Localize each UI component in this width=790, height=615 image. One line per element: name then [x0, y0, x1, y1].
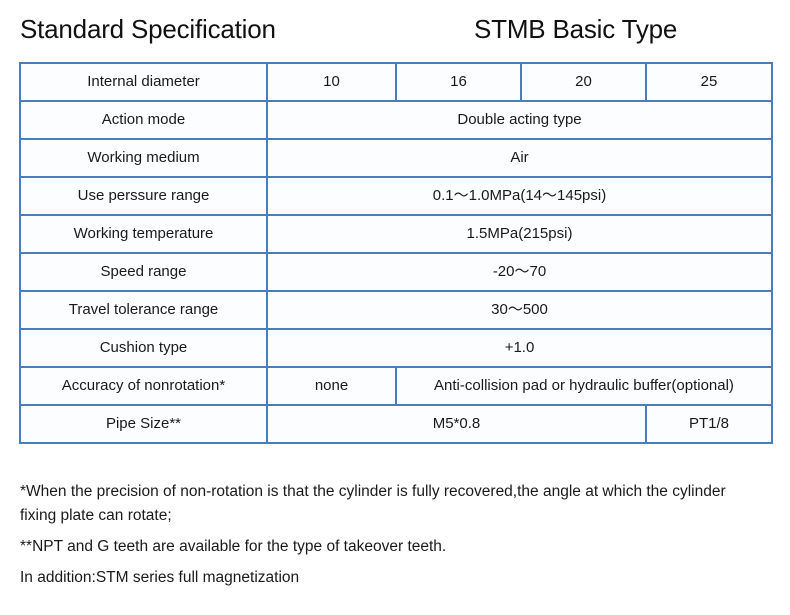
- footnote-nonrotation: *When the precision of non-rotation is t…: [20, 480, 762, 528]
- row-label: Action mode: [20, 101, 267, 139]
- row-label: Working temperature: [20, 215, 267, 253]
- table-cell: 20: [521, 63, 646, 101]
- table-cell: 25: [646, 63, 772, 101]
- row-label: Accuracy of nonrotation*: [20, 367, 267, 405]
- table-cell: 30～500: [267, 291, 772, 329]
- table-cell: -20～70: [267, 253, 772, 291]
- table-cell: 1.5MPa(215psi): [267, 215, 772, 253]
- footnote-additional: In addition:STM series full magnetizatio…: [20, 566, 762, 590]
- specification-table-container: Internal diameter 10 16 20 25 Action mod…: [19, 62, 771, 444]
- table-cell: M5*0.8: [267, 405, 646, 443]
- table-row: Use perssure range 0.1～1.0MPa(14～145psi): [20, 177, 772, 215]
- table-row: Accuracy of nonrotation* none Anti-colli…: [20, 367, 772, 405]
- row-label: Internal diameter: [20, 63, 267, 101]
- row-label: Speed range: [20, 253, 267, 291]
- table-cell: Double acting type: [267, 101, 772, 139]
- page-title-left: Standard Specification: [20, 14, 276, 45]
- table-row: Cushion type +1.0: [20, 329, 772, 367]
- row-label: Use perssure range: [20, 177, 267, 215]
- table-cell: 10: [267, 63, 396, 101]
- table-row: Internal diameter 10 16 20 25: [20, 63, 772, 101]
- table-cell: PT1/8: [646, 405, 772, 443]
- table-row: Pipe Size** M5*0.8 PT1/8: [20, 405, 772, 443]
- page-title-right: STMB Basic Type: [474, 14, 677, 45]
- table-row: Travel tolerance range 30～500: [20, 291, 772, 329]
- row-label: Working medium: [20, 139, 267, 177]
- footnote-pipe-size: **NPT and G teeth are available for the …: [20, 535, 762, 559]
- table-cell: Anti-collision pad or hydraulic buffer(o…: [396, 367, 772, 405]
- page-header: Standard Specification STMB Basic Type: [0, 14, 790, 56]
- table-row: Working medium Air: [20, 139, 772, 177]
- table-cell: 0.1～1.0MPa(14～145psi): [267, 177, 772, 215]
- table-row: Speed range -20～70: [20, 253, 772, 291]
- table-cell: Air: [267, 139, 772, 177]
- row-label: Cushion type: [20, 329, 267, 367]
- table-row: Action mode Double acting type: [20, 101, 772, 139]
- footnotes-section: *When the precision of non-rotation is t…: [20, 480, 770, 590]
- table-cell: 16: [396, 63, 521, 101]
- table-row: Working temperature 1.5MPa(215psi): [20, 215, 772, 253]
- table-cell: none: [267, 367, 396, 405]
- row-label: Travel tolerance range: [20, 291, 267, 329]
- specification-table: Internal diameter 10 16 20 25 Action mod…: [19, 62, 773, 444]
- row-label: Pipe Size**: [20, 405, 267, 443]
- specification-table-body: Internal diameter 10 16 20 25 Action mod…: [20, 63, 772, 443]
- table-cell: +1.0: [267, 329, 772, 367]
